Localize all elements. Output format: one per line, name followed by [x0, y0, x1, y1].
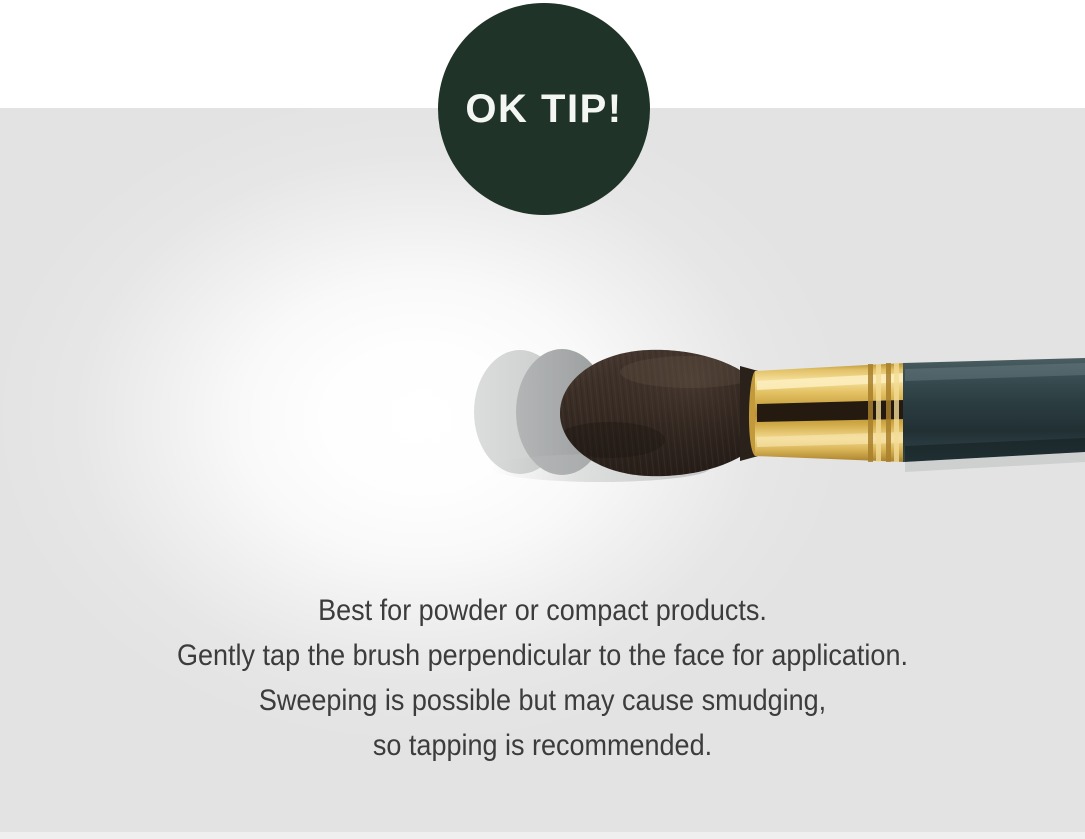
caption-block: Best for powder or compact products. Gen… — [54, 588, 1031, 768]
caption-line-1: Best for powder or compact products. — [54, 588, 1031, 633]
ok-tip-badge: OK TIP! — [438, 3, 650, 215]
tip-card: OK TIP! Best for powder or compact produ… — [0, 0, 1085, 839]
caption-line-3: Sweeping is possible but may cause smudg… — [54, 678, 1031, 723]
bottom-edge-strip — [0, 832, 1085, 839]
caption-line-2: Gently tap the brush perpendicular to th… — [54, 633, 1031, 678]
caption-line-4: so tapping is recommended. — [54, 723, 1031, 768]
ok-tip-badge-label: OK TIP! — [465, 89, 622, 129]
